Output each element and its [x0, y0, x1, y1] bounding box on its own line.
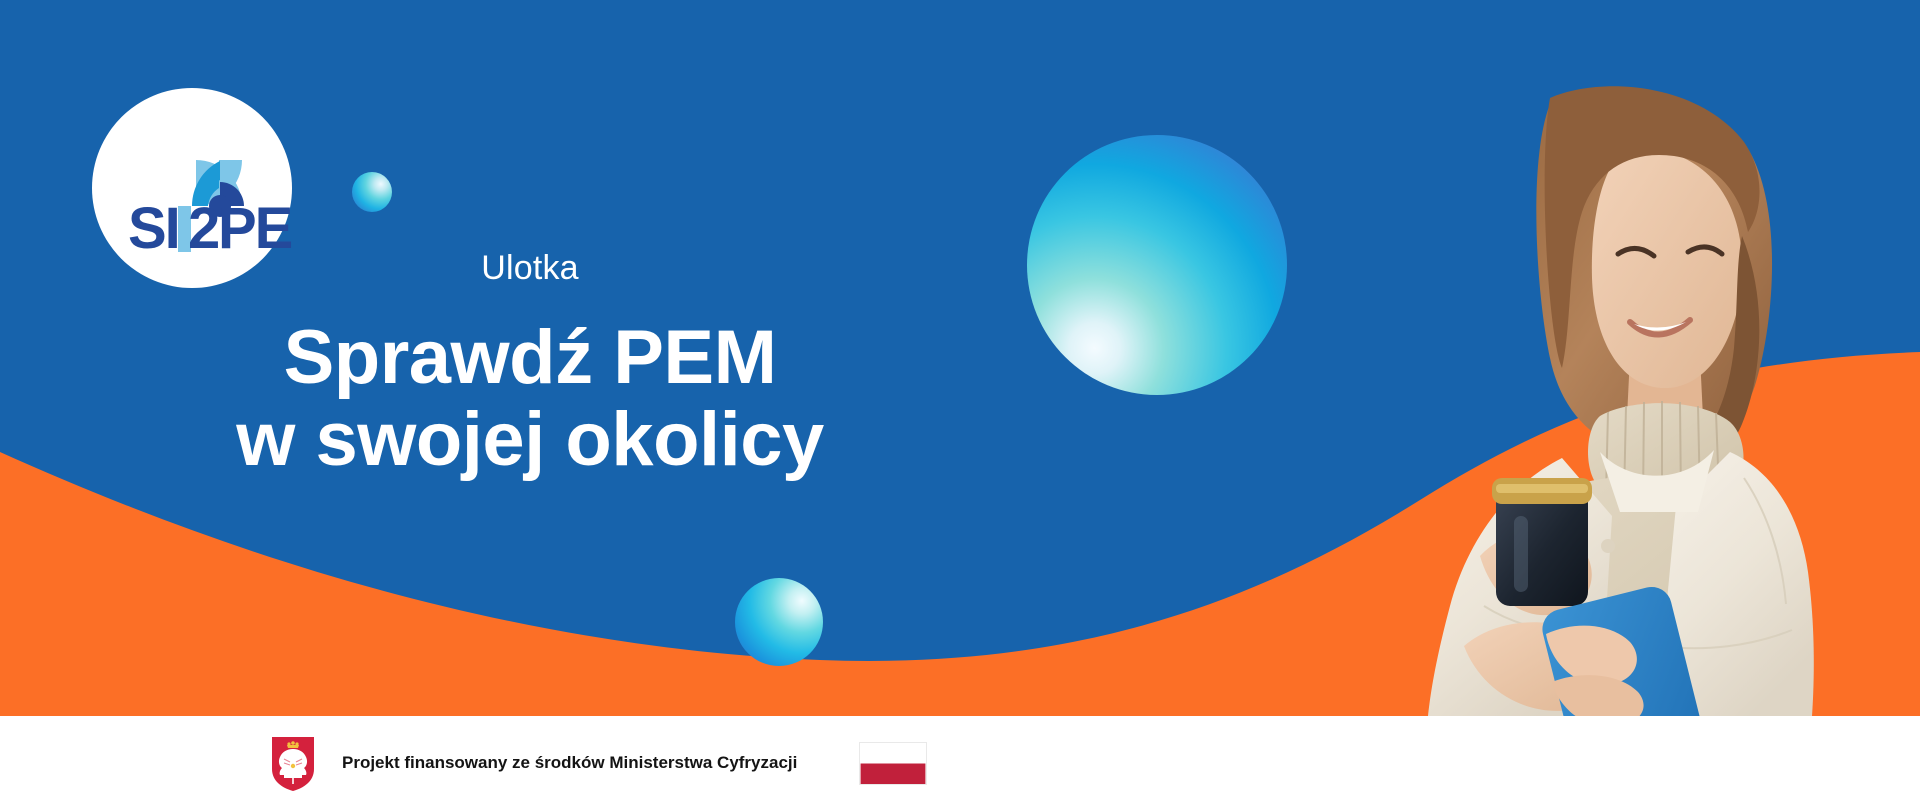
hero-section: SI 2 PEM Ulotka Sprawdź PEM w swojej oko… — [0, 0, 1920, 716]
eyebrow-label: Ulotka — [0, 250, 1060, 287]
funding-statement: Projekt finansowany ze środków Ministers… — [342, 753, 797, 773]
footer-bar: Projekt finansowany ze środków Ministers… — [0, 716, 1920, 810]
gradient-sphere-large — [1027, 135, 1287, 395]
pem-promo-banner: SI 2 PEM Ulotka Sprawdź PEM w swojej oko… — [0, 0, 1920, 810]
page-title: Sprawdź PEM w swojej okolicy — [0, 317, 1060, 481]
hero-text-block: Ulotka Sprawdź PEM w swojej okolicy — [0, 250, 1060, 482]
gradient-sphere-small — [352, 172, 392, 212]
travel-mug — [1492, 478, 1592, 606]
woman-with-smartphone-photo — [1300, 86, 1820, 716]
gradient-sphere-medium — [735, 578, 823, 666]
polish-flag — [859, 742, 927, 785]
polish-coat-of-arms — [270, 735, 316, 792]
